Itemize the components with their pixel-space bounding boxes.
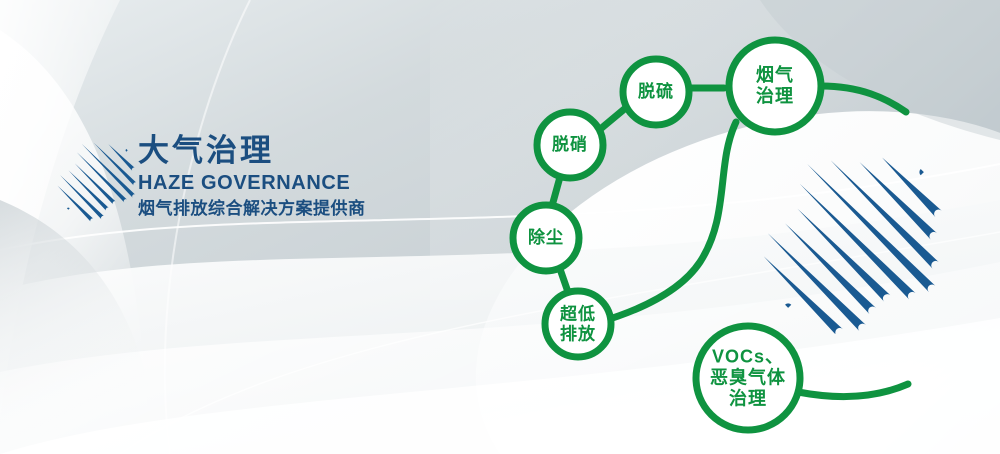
diagram-nodes xyxy=(513,40,821,430)
hatch-pattern-right xyxy=(764,157,942,335)
connector-dust-denitr xyxy=(552,177,560,206)
hatch-stroke xyxy=(882,157,942,217)
hatch-stroke xyxy=(66,208,69,211)
hatch-pattern-left xyxy=(57,143,136,222)
hatch-stroke xyxy=(108,144,135,171)
diagram-artwork xyxy=(0,0,1000,454)
hatch-stroke xyxy=(77,152,127,202)
diagram-node-dust-removal[interactable] xyxy=(513,205,579,271)
hatch-stroke xyxy=(784,303,792,311)
hatch-stroke xyxy=(919,168,927,176)
connector-big-arc xyxy=(600,122,736,322)
hatch-stroke xyxy=(797,209,890,302)
hatch-stroke xyxy=(831,160,939,268)
page-title-english: HAZE GOVERNANCE xyxy=(138,170,468,196)
page-subtitle: 烟气排放综合解决方案提供商 xyxy=(138,196,468,221)
diagram-node-ultra-low-emission[interactable] xyxy=(545,291,611,357)
hatch-stroke xyxy=(768,233,866,331)
hatch-stroke xyxy=(60,175,104,219)
diagram-node-desulfurization[interactable] xyxy=(623,59,689,125)
connector-ultralow-dust xyxy=(560,269,568,292)
diagram-node-vocs-odor[interactable] xyxy=(696,326,800,430)
connector-denitr-desulf xyxy=(598,106,628,131)
headline-block: 大气治理 HAZE GOVERNANCE 烟气排放综合解决方案提供商 xyxy=(138,132,468,221)
diagram-node-denitrification[interactable] xyxy=(537,112,603,178)
banner-root: 大气治理 HAZE GOVERNANCE 烟气排放综合解决方案提供商 烟气 治理… xyxy=(0,0,1000,454)
hatch-stroke xyxy=(82,144,136,198)
hatch-stroke xyxy=(807,164,935,292)
hatch-stroke xyxy=(785,223,876,314)
connector-vocs-right-stub xyxy=(798,384,908,397)
connector-flue-right-stub xyxy=(821,86,906,112)
page-title: 大气治理 xyxy=(138,132,468,170)
diagram-node-flue-gas-treatment[interactable] xyxy=(729,40,821,132)
hatch-stroke xyxy=(126,148,129,151)
